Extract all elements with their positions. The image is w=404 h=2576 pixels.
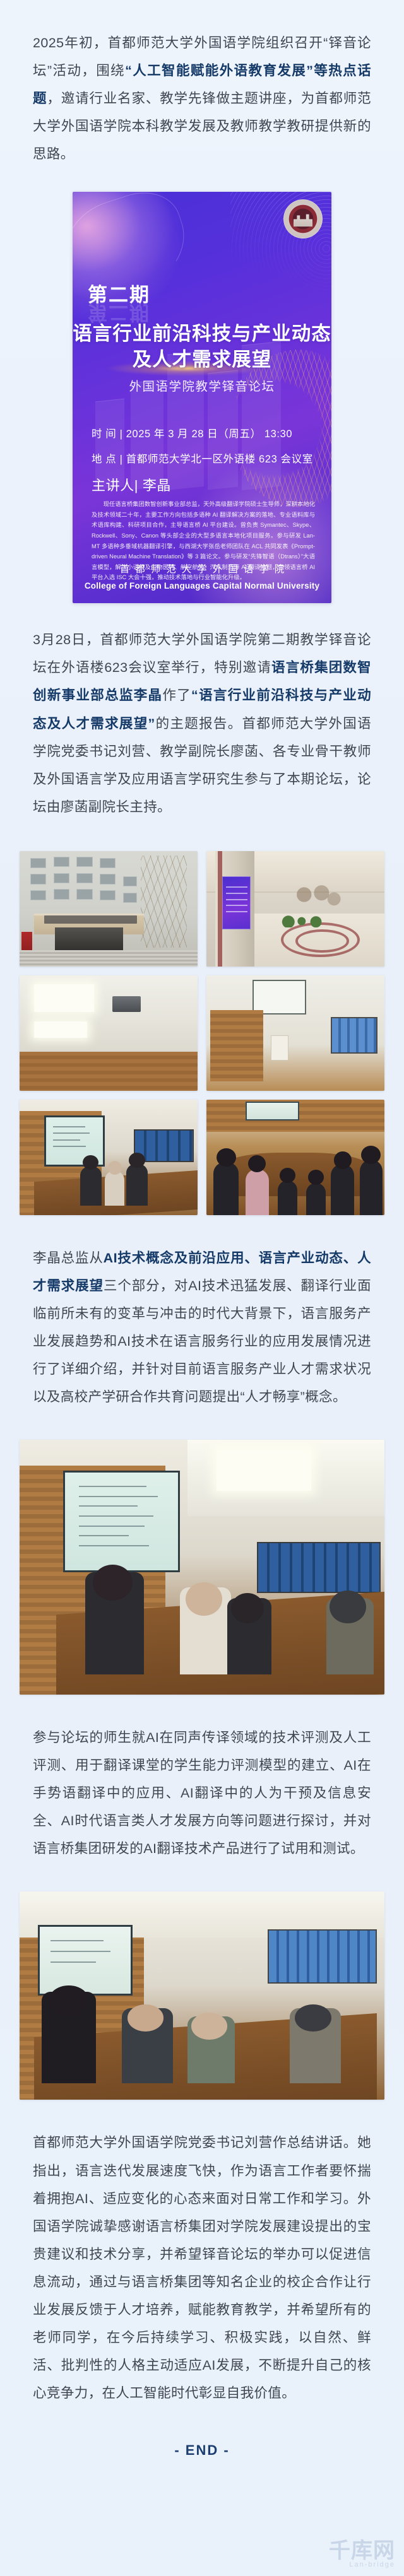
poster-place: 地 点 | 首都师范大学北一区外语楼 623 会议室 <box>92 450 313 466</box>
article-page: 2025年初，首都师范大学外国语学院组织召开“铎音论坛”活动，围绕“人工智能赋能… <box>0 0 404 2576</box>
paragraph-1: 2025年初，首都师范大学外国语学院组织召开“铎音论坛”活动，围绕“人工智能赋能… <box>33 0 371 168</box>
forum-poster: 第二期 第二期 语言行业前沿科技与产业动态 及人才需求展望 外国语学院教学铎音论… <box>73 192 331 603</box>
p5-part-1: 首都师范大学外国语学院党委书记刘营作总结讲话。她指出，语言迭代发展速度飞快，作为… <box>33 2135 371 2401</box>
paragraph-4: 参与论坛的师生就AI在同声传译领域的技术评测及人工评测、用于翻译课堂的学生能力评… <box>33 1724 371 1862</box>
poster-footer-cn: 首都师范大学外国语学院 <box>73 562 331 575</box>
poster-time: 时 间 | 2025 年 3 月 28 日（周五） 13:30 <box>92 425 292 440</box>
photo-meeting-room-ceiling <box>20 975 198 1091</box>
watermark-text: 千库网 <box>329 2539 395 2563</box>
photo-grid <box>20 851 384 1215</box>
photo-meeting-room-screen <box>206 975 384 1091</box>
photo-audience-seated <box>206 1100 384 1215</box>
watermark: 千库网 Lan-bridge <box>329 2540 395 2568</box>
photo-group-discussion <box>20 1891 384 2100</box>
p1-part-3: ，邀请行业名家、教学先锋做主题讲座，为首都师范大学外国语学院本科教学发展及教师教… <box>33 91 371 162</box>
poster-title-line-2: 及人才需求展望 <box>73 344 331 372</box>
university-seal-icon <box>283 199 323 238</box>
watermark-sub: Lan-bridge <box>329 2561 395 2568</box>
poster-issue-label: 第二期 <box>88 279 150 307</box>
paragraph-3: 李晶总监从AI技术概念及前沿应用、语言产业动态、人才需求展望三个部分，对AI技术… <box>33 1244 371 1411</box>
end-mark: - END - <box>0 2442 404 2459</box>
p3-part-3: 三个部分，对AI技术迅猛发展、翻译行业面临前所未有的变革与冲击的时代大背景下，语… <box>33 1278 371 1404</box>
p3-part-1: 李晶总监从 <box>33 1250 104 1266</box>
p2-part-3: 作了 <box>162 688 191 703</box>
photo-speaker-presenting <box>20 1100 198 1215</box>
p4-part-1: 参与论坛的师生就AI在同声传译领域的技术评测及人工评测、用于翻译课堂的学生能力评… <box>33 1730 371 1856</box>
poster-subtitle: 外国语学院教学铎音论坛 <box>73 376 331 394</box>
poster-title-line-1: 语言行业前沿科技与产业动态 <box>73 318 331 346</box>
paragraph-5: 首都师范大学外国语学院党委书记刘营作总结讲话。她指出，语言迭代发展速度飞快，作为… <box>33 2129 371 2407</box>
photo-lobby-poster <box>206 851 384 967</box>
paragraph-2: 3月28日，首都师范大学外国语学院第二期教学铎音论坛在外语楼623会议室举行，特… <box>33 626 371 820</box>
photo-building-entrance <box>20 851 198 967</box>
poster-footer-en: College of Foreign Languages Capital Nor… <box>73 581 331 591</box>
photo-discussion-table <box>20 1440 384 1695</box>
forum-poster-container: 第二期 第二期 语言行业前沿科技与产业动态 及人才需求展望 外国语学院教学铎音论… <box>73 192 331 603</box>
poster-speaker: 主讲人| 李晶 <box>92 474 171 495</box>
